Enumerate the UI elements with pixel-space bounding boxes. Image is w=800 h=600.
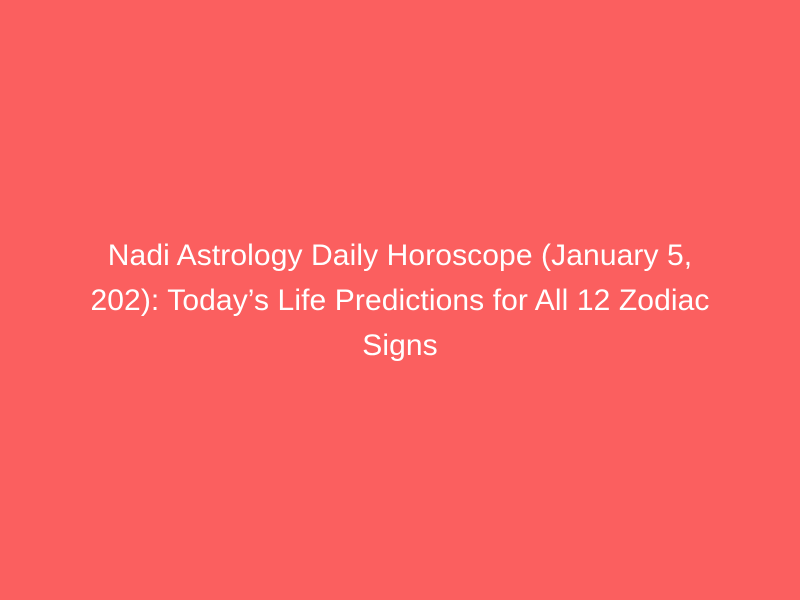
page-title: Nadi Astrology Daily Horoscope (January … (70, 233, 730, 368)
placeholder-card: Nadi Astrology Daily Horoscope (January … (0, 0, 800, 600)
